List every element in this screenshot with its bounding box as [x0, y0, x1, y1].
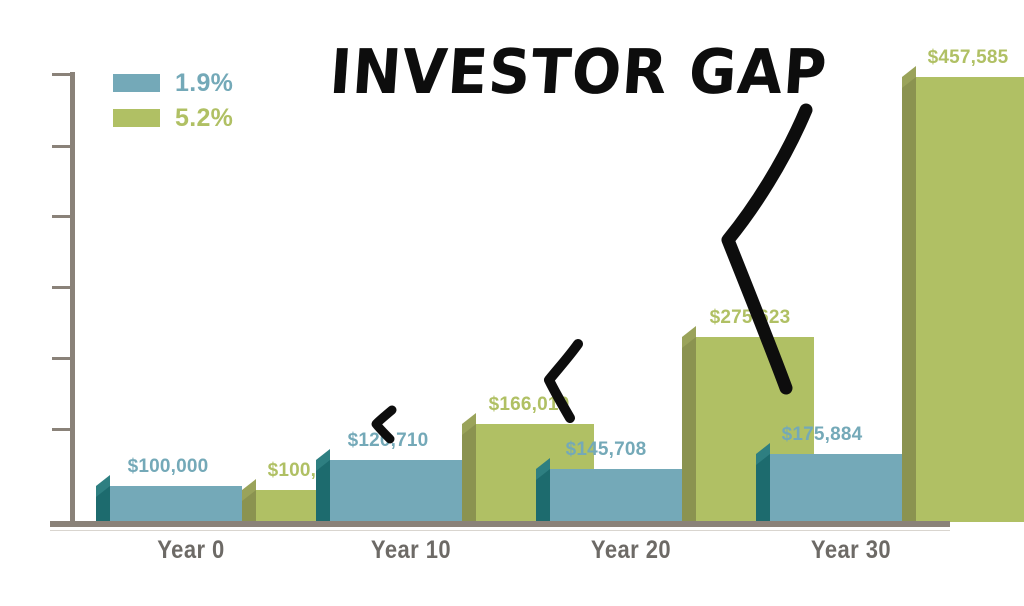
- y-axis-tick: [52, 286, 71, 289]
- bar-side-face: [756, 454, 770, 522]
- bar-group-year-10: $120,710 $166,019: [316, 60, 506, 522]
- legend: 1.9% 5.2%: [113, 70, 233, 140]
- legend-item-series-1-9[interactable]: 1.9%: [113, 70, 233, 96]
- chart-canvas: $100,000 $100,000 $120,710 $166,019: [0, 0, 1024, 606]
- bar-group-year-20: $145,708 $275.623: [536, 60, 726, 522]
- y-axis-tick: [52, 215, 71, 218]
- bar-year-30-series-1-9[interactable]: $175,884: [770, 454, 902, 522]
- y-axis-tick: [52, 428, 71, 431]
- bar-side-face: [462, 424, 476, 522]
- bar-front-face: [330, 460, 462, 522]
- legend-swatch-icon: [113, 74, 160, 92]
- bar-side-face: [682, 337, 696, 522]
- chart-title: INVESTOR GAP: [327, 36, 829, 108]
- bar-group-year-30: $175,884 $457,585: [756, 60, 946, 522]
- bar-year-20-series-1-9[interactable]: $145,708: [550, 469, 682, 522]
- y-axis-tick: [52, 145, 71, 148]
- bar-value-label: $100,000: [128, 456, 209, 478]
- bar-value-label: $145,708: [566, 439, 647, 461]
- legend-swatch-icon: [113, 109, 160, 127]
- x-axis-underline: [50, 530, 950, 531]
- x-axis-line: [50, 521, 950, 527]
- legend-label: 5.2%: [175, 104, 233, 133]
- x-tick-label-year-30: Year 30: [767, 536, 934, 565]
- y-axis-tick: [52, 357, 71, 360]
- bar-value-label: $175,884: [782, 424, 863, 446]
- legend-label: 1.9%: [175, 69, 233, 98]
- y-axis-tick: [52, 73, 71, 76]
- legend-item-series-5-2[interactable]: 5.2%: [113, 105, 233, 131]
- x-tick-label-year-0: Year 0: [107, 536, 274, 565]
- bar-front-face: [110, 486, 242, 522]
- bar-side-face: [902, 77, 916, 522]
- bar-front-face: [550, 469, 682, 522]
- bar-year-0-series-1-9[interactable]: $100,000: [110, 486, 242, 522]
- x-tick-label-year-20: Year 20: [547, 536, 714, 565]
- bar-front-face: [916, 77, 1024, 522]
- bar-year-10-series-1-9[interactable]: $120,710: [330, 460, 462, 522]
- bar-front-face: [770, 454, 902, 522]
- bar-year-30-series-5-2[interactable]: $457,585: [916, 77, 1024, 522]
- bar-value-label: $457,585: [928, 47, 1009, 69]
- x-tick-label-year-10: Year 10: [327, 536, 494, 565]
- bar-value-label: $120,710: [348, 430, 429, 452]
